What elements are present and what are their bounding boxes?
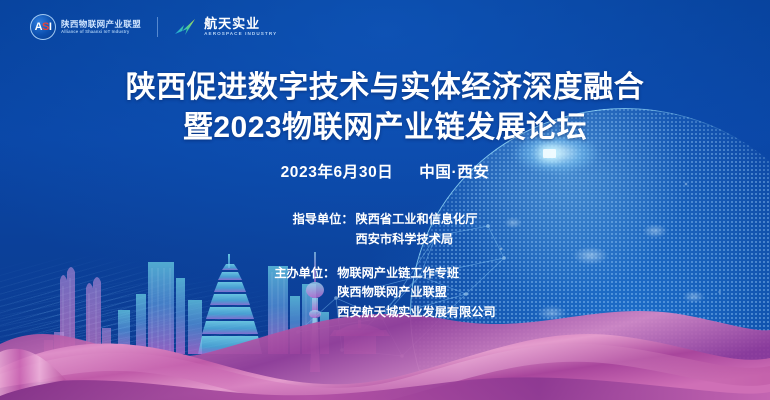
event-date: 2023年6月30日	[281, 164, 394, 181]
organizer-values: 物联网产业链工作专班 陕西物联网产业联盟 西安航天城实业发展有限公司	[337, 264, 495, 323]
logo-divider	[157, 17, 158, 37]
alliance-logo-text: 陕西物联网产业联盟 Alliance of Shaanxi IoT Indust…	[61, 20, 141, 35]
organizer-values: 陕西省工业和信息化厅 西安市科学技术局	[356, 210, 478, 250]
header-logo-bar: ASI 陕西物联网产业联盟 Alliance of Shaanxi IoT In…	[30, 12, 277, 42]
alliance-logo: ASI 陕西物联网产业联盟 Alliance of Shaanxi IoT In…	[30, 14, 141, 40]
aerospace-swoosh-icon	[174, 17, 198, 37]
title-line-1: 陕西促进数字技术与实体经济深度融合	[126, 71, 645, 104]
organizer-value: 西安航天城实业发展有限公司	[337, 303, 495, 323]
asi-letter-s: S	[42, 21, 49, 33]
alliance-name-cn: 陕西物联网产业联盟	[61, 20, 141, 29]
aerospace-logo: 航天实业 AEROSPACE INDUSTRY	[174, 17, 277, 37]
organizer-label: 主办单位：	[274, 264, 335, 323]
title-line-2: 暨2023物联网产业链发展论坛	[0, 108, 770, 148]
event-poster: ASI 陕西物联网产业联盟 Alliance of Shaanxi IoT In…	[0, 0, 770, 400]
alliance-name-en: Alliance of Shaanxi IoT Industry	[61, 29, 141, 35]
organizer-value: 陕西物联网产业联盟	[337, 283, 495, 303]
asi-monogram-icon: ASI	[30, 14, 56, 40]
organizer-section: 指导单位： 陕西省工业和信息化厅 西安市科学技术局 主办单位： 物联网产业链工作…	[0, 210, 770, 337]
organizer-value: 物联网产业链工作专班	[337, 264, 495, 284]
organizer-value: 陕西省工业和信息化厅	[356, 210, 478, 230]
organizer-value: 西安市科学技术局	[356, 230, 478, 250]
organizer-block: 指导单位： 陕西省工业和信息化厅 西安市科学技术局	[0, 210, 770, 250]
organizer-label: 指导单位：	[293, 210, 354, 250]
aerospace-name-cn: 航天实业	[204, 17, 277, 31]
event-datetime-location: 2023年6月30日 中国·西安	[0, 160, 770, 182]
event-location: 中国·西安	[419, 164, 489, 181]
aerospace-name-en: AEROSPACE INDUSTRY	[204, 31, 277, 37]
asi-letter-i: I	[49, 21, 52, 33]
aerospace-logo-text: 航天实业 AEROSPACE INDUSTRY	[204, 17, 277, 37]
organizer-block: 主办单位： 物联网产业链工作专班 陕西物联网产业联盟 西安航天城实业发展有限公司	[0, 264, 770, 323]
asi-letter-a: A	[35, 21, 42, 33]
poster-title: 陕西促进数字技术与实体经济深度融合 暨2023物联网产业链发展论坛	[0, 68, 770, 147]
